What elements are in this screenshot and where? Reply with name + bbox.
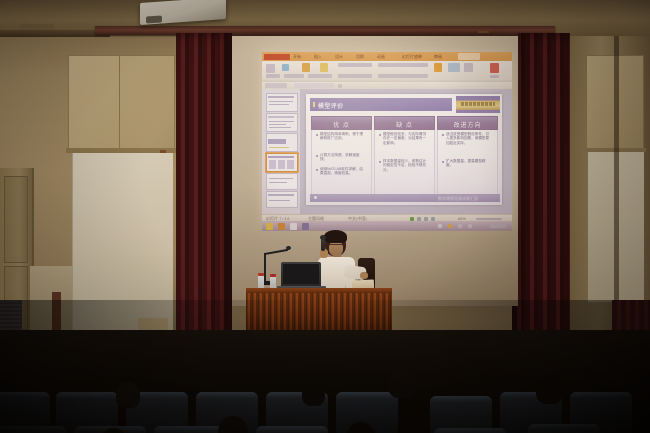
- tray-volume-icon[interactable]: [458, 224, 462, 228]
- column-header-band: 优 点: [311, 116, 372, 130]
- slide-thumbnail[interactable]: [266, 113, 298, 132]
- slide-footer-text: 数学建模竞赛成果汇报: [438, 196, 478, 202]
- zoom-slider[interactable]: [476, 218, 502, 220]
- speaker-right-hand: [360, 272, 368, 279]
- bottle-cap-icon: [258, 273, 264, 276]
- theater-seat: [0, 426, 66, 433]
- speaker-glasses: [329, 244, 343, 248]
- view-slideshow-icon[interactable]: [431, 217, 435, 221]
- layout-icon[interactable]: [302, 63, 310, 72]
- column-header-label: 改进方向: [438, 120, 497, 129]
- font-size-selector[interactable]: [284, 74, 304, 78]
- speaker-hair: [324, 230, 347, 243]
- curtain-right: [512, 33, 570, 343]
- bullet-text: 适当放宽模型假设条件，引入更多影响因素，使模型更加贴近实际。: [446, 132, 492, 145]
- slide-image-caption: [461, 102, 495, 106]
- bullet-text: 样本数据量较少，参数估计的稳定性不足，检验不够充分。: [383, 159, 429, 172]
- bullet-text: 使用MATLAB软件求解，结果直观，精度较高。: [320, 167, 366, 176]
- bullet-text: 模型结构简单清晰，便于理解和推广应用。: [320, 132, 366, 141]
- slide-thumbnail[interactable]: [266, 133, 298, 152]
- titlebar-login-button[interactable]: [458, 53, 480, 60]
- theater-seat: [256, 426, 328, 433]
- slide-column-advantages: 优 点 模型结构简单清晰，便于理解和推广应用。 计算方法简便，求解速度快。: [311, 116, 372, 198]
- slide-column-improvements: 改进方向 适当放宽模型假设条件，引入更多影响因素，使模型更加贴近实际。 扩大数据…: [437, 116, 498, 198]
- tray-clock[interactable]: [490, 224, 506, 228]
- ceiling-rail-segment: [0, 30, 110, 37]
- theater-seat: [154, 426, 226, 433]
- taskbar-browser-icon[interactable]: [290, 223, 297, 230]
- footer-dot-icon: [314, 196, 317, 199]
- bullet-dot-icon: [316, 169, 318, 171]
- column-header-label: 优 点: [312, 120, 371, 129]
- left-wall-cabinet: [68, 55, 175, 152]
- find-replace-icon[interactable]: [490, 63, 499, 73]
- wps-logo-icon: [264, 54, 290, 60]
- column-header-band: 改进方向: [437, 116, 498, 130]
- slide-canvas-area[interactable]: 模型评价 优 点 模型结构简单清晰，便于理解和推广应用。: [300, 89, 512, 214]
- new-slide-icon[interactable]: [282, 64, 289, 71]
- app-ribbon: [262, 61, 512, 83]
- desk-microphone-capsule-icon: [286, 246, 291, 250]
- app-workspace: 模型评价 优 点 模型结构简单清晰，便于理解和推广应用。: [262, 89, 512, 214]
- menu-item-slideshow[interactable]: 幻灯片放映: [402, 54, 422, 60]
- water-bottle: [258, 275, 264, 289]
- bottle-cap-icon: [270, 274, 276, 277]
- bullet-dot-icon: [379, 161, 381, 163]
- screenshot-root: 开始 插入 设计 切换 动画 幻灯片放映 审阅: [0, 0, 650, 433]
- quick-access-toolbar[interactable]: [265, 83, 287, 88]
- bullet-dot-icon: [442, 134, 444, 136]
- mic-stand-pole: [264, 253, 266, 282]
- spacing-group[interactable]: [378, 74, 428, 78]
- paragraph-group-top[interactable]: [338, 63, 372, 67]
- taskbar-start-icon[interactable]: [266, 223, 273, 230]
- floor-vent: [0, 300, 22, 330]
- audience-head: [388, 368, 416, 398]
- slide-thumbnail[interactable]: [266, 93, 298, 112]
- view-reading-icon[interactable]: [424, 217, 428, 221]
- bullet-text: 扩大数据量，提高模型精度。: [446, 159, 492, 168]
- paragraph-group-bottom[interactable]: [338, 74, 372, 78]
- paste-icon[interactable]: [266, 64, 275, 73]
- projector-lens-icon: [146, 15, 162, 23]
- bullet-text: 模型假设较多，与实际情况存在一定偏差，对结果有一定影响。: [383, 132, 429, 145]
- laptop-display: [283, 264, 319, 284]
- title-bullet-icon: [313, 102, 315, 107]
- font-family-selector[interactable]: [266, 74, 280, 78]
- left-wall-panel: [72, 153, 173, 338]
- menu-item-insert[interactable]: 插入: [314, 54, 322, 60]
- menu-item-animation[interactable]: 动画: [377, 54, 385, 60]
- view-sorter-icon[interactable]: [417, 217, 421, 221]
- projected-presentation-window[interactable]: 开始 插入 设计 切换 动画 幻灯片放映 审阅: [262, 52, 512, 226]
- alignment-group[interactable]: [378, 63, 428, 67]
- bullet-dot-icon: [316, 134, 318, 136]
- shape-fill-icon[interactable]: [434, 63, 442, 72]
- current-slide[interactable]: 模型评价 优 点 模型结构简单清晰，便于理解和推广应用。: [306, 94, 502, 205]
- bullet-dot-icon: [442, 161, 444, 163]
- select-icon[interactable]: [490, 75, 499, 78]
- audience-area: [0, 330, 650, 433]
- right-wall-shadow: [614, 36, 619, 306]
- left-wall-lower-strip: [30, 266, 72, 340]
- cabinet-seam: [119, 56, 120, 149]
- door-panel-upper: [4, 176, 28, 263]
- slide-thumbnail-selected[interactable]: [266, 153, 298, 172]
- audience-head: [536, 374, 563, 404]
- audience-head: [302, 380, 325, 406]
- section-icon[interactable]: [320, 63, 328, 72]
- taskbar-wps-icon[interactable]: [302, 223, 309, 230]
- column-header-label: 缺 点: [375, 120, 434, 129]
- menu-item-transition[interactable]: 切换: [356, 54, 364, 60]
- menu-item-review[interactable]: 审阅: [434, 54, 442, 60]
- menu-item-start[interactable]: 开始: [293, 54, 301, 60]
- add-tab-icon[interactable]: [338, 84, 342, 88]
- taskbar-folder-icon[interactable]: [278, 223, 285, 230]
- app-titlebar: 开始 插入 设计 切换 动画 幻灯片放映 审阅: [262, 52, 512, 61]
- column-header-band: 缺 点: [374, 116, 435, 130]
- slide-thumbnail[interactable]: [266, 191, 298, 208]
- slide-thumbnail[interactable]: [266, 173, 298, 190]
- text-effects-group[interactable]: [308, 74, 332, 78]
- quick-styles-icon[interactable]: [464, 63, 473, 72]
- tray-network-icon[interactable]: [438, 224, 442, 228]
- curtain-left: [176, 33, 232, 343]
- theater-seat: [434, 428, 506, 433]
- tray-security-icon[interactable]: [448, 224, 452, 228]
- microphone-capsule-icon: [320, 235, 326, 240]
- tray-ime-icon[interactable]: [468, 224, 472, 228]
- arrange-icon[interactable]: [448, 63, 460, 72]
- slide-title: 模型评价: [318, 101, 344, 110]
- audience-head: [116, 382, 140, 408]
- view-normal-icon[interactable]: [410, 217, 414, 221]
- document-tab[interactable]: [294, 83, 334, 88]
- bullet-dot-icon: [316, 155, 318, 157]
- os-taskbar[interactable]: [262, 221, 512, 231]
- bullet-dot-icon: [379, 134, 381, 136]
- slide-thumbnail-panel[interactable]: [262, 89, 301, 214]
- menu-item-design[interactable]: 设计: [335, 54, 343, 60]
- bullet-text: 计算方法简便，求解速度快。: [320, 153, 366, 162]
- slide-column-disadvantages: 缺 点 模型假设较多，与实际情况存在一定偏差，对结果有一定影响。 样本数据量较少…: [374, 116, 435, 198]
- theater-seat: [528, 424, 600, 433]
